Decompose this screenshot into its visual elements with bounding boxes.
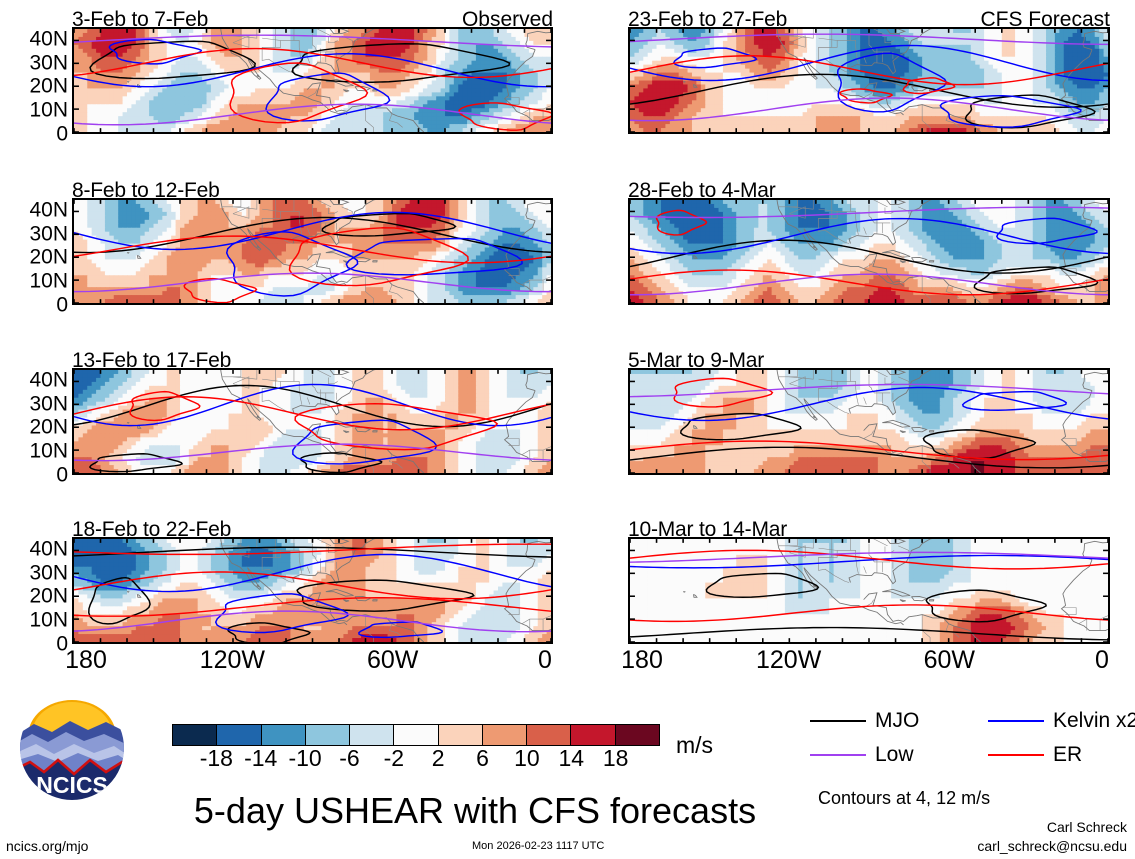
colorbar-ticks: -18-14-10-6-226101418 [172, 746, 660, 776]
y-tick-label: 40N [29, 369, 68, 390]
y-tick-label: 20N [29, 247, 68, 268]
y-axis-labels-1: 40N30N20N10N0 [0, 198, 68, 305]
colorbar-tick-label: 2 [432, 747, 445, 770]
y-tick-label: 20N [29, 76, 68, 97]
axis-ticks-5 [630, 200, 1108, 303]
x-tick-label: 180 [621, 648, 663, 673]
y-tick-label: 10N [29, 610, 68, 631]
map-panel-7: 10-Mar to 14-Mar180120W60W0 [628, 537, 1110, 644]
wave-legend-item-er: ER [988, 744, 1082, 765]
map-panel-0: 3-Feb to 7-FebObserved40N30N20N10N0 [72, 27, 553, 134]
author-block: Carl Schreck carl_schreck@ncsu.edu [977, 818, 1127, 856]
map-panel-3: 18-Feb to 22-Feb40N30N20N10N0180120W60W0 [72, 537, 553, 644]
colorbar-swatch [483, 725, 527, 745]
colorbar-swatch [262, 725, 306, 745]
contour-note: Contours at 4, 12 m/s [818, 788, 990, 809]
colorbar-swatch [527, 725, 571, 745]
y-tick-label: 10N [29, 100, 68, 121]
map-plot-area-7 [628, 537, 1110, 644]
map-panel-2: 13-Feb to 17-Feb40N30N20N10N0 [72, 368, 553, 475]
legend-label: ER [1053, 744, 1082, 765]
colorbar-swatch [217, 725, 261, 745]
colorbar-swatch [306, 725, 350, 745]
site-url: ncics.org/mjo [6, 838, 88, 854]
colorbar-swatch [616, 725, 659, 745]
x-tick-label: 0 [1095, 648, 1109, 673]
axis-ticks-0 [74, 29, 551, 132]
author-email: carl_schreck@ncsu.edu [977, 837, 1127, 856]
x-tick-label: 0 [538, 648, 552, 673]
wave-legend: MJOKelvin x2LowER [810, 710, 1130, 776]
y-tick-label: 20N [29, 417, 68, 438]
y-tick-label: 10N [29, 441, 68, 462]
y-tick-label: 10N [29, 271, 68, 292]
axis-ticks-7 [630, 539, 1108, 642]
colorbar: -18-14-10-6-226101418 [172, 724, 660, 746]
colorbar-tick-label: 6 [476, 747, 489, 770]
colorbar-swatch [173, 725, 217, 745]
colorbar-tick-label: -18 [200, 747, 233, 770]
timestamp: Mon 2026-02-23 1117 UTC [472, 840, 604, 852]
map-panel-4: 23-Feb to 27-FebCFS Forecast [628, 27, 1110, 134]
y-tick-label: 30N [29, 52, 68, 73]
page-title: 5-day USHEAR with CFS forecasts [150, 790, 800, 832]
y-axis-labels-3: 40N30N20N10N0 [0, 537, 68, 644]
colorbar-swatch [571, 725, 615, 745]
colorbar-swatch [350, 725, 394, 745]
wave-legend-item-mjo: MJO [810, 710, 919, 731]
wave-legend-item-low: Low [810, 744, 914, 765]
map-plot-area-6 [628, 368, 1110, 475]
legend-line-swatch [810, 720, 866, 722]
x-axis-labels-3: 180120W60W0 [72, 648, 553, 682]
map-plot-area-2 [72, 368, 553, 475]
x-tick-label: 120W [756, 648, 821, 673]
y-tick-label: 40N [29, 199, 68, 220]
map-plot-area-1 [72, 198, 553, 305]
y-tick-label: 30N [29, 223, 68, 244]
map-panel-5: 28-Feb to 4-Mar [628, 198, 1110, 305]
axis-ticks-2 [74, 370, 551, 473]
y-tick-label: 40N [29, 28, 68, 49]
legend-line-swatch [810, 754, 866, 756]
x-tick-label: 60W [367, 648, 418, 673]
y-tick-label: 30N [29, 562, 68, 583]
legend-label: Low [875, 744, 914, 765]
colorbar-swatch [439, 725, 483, 745]
map-plot-area-4 [628, 27, 1110, 134]
colorbar-tick-label: -10 [288, 747, 321, 770]
legend-label: Kelvin x2 [1053, 710, 1135, 731]
legend-label: MJO [875, 710, 919, 731]
y-tick-label: 0 [56, 465, 68, 486]
x-tick-label: 60W [924, 648, 975, 673]
panel-grid: 3-Feb to 7-FebObserved40N30N20N10N08-Feb… [0, 0, 1135, 700]
ncics-logo-svg: NCICS [18, 694, 126, 802]
y-tick-label: 0 [56, 295, 68, 316]
axis-ticks-1 [74, 200, 551, 303]
x-tick-label: 120W [200, 648, 265, 673]
colorbar-tick-label: -14 [244, 747, 277, 770]
y-axis-labels-0: 40N30N20N10N0 [0, 27, 68, 134]
y-axis-labels-2: 40N30N20N10N0 [0, 368, 68, 475]
map-panel-1: 8-Feb to 12-Feb40N30N20N10N0 [72, 198, 553, 305]
colorbar-tick-label: 10 [514, 747, 540, 770]
ncics-logo: NCICS [18, 694, 126, 802]
map-plot-area-5 [628, 198, 1110, 305]
colorbar-swatches [172, 724, 660, 746]
y-tick-label: 20N [29, 586, 68, 607]
y-tick-label: 40N [29, 538, 68, 559]
colorbar-swatch [394, 725, 438, 745]
colorbar-tick-label: -2 [384, 747, 404, 770]
colorbar-tick-label: -6 [339, 747, 359, 770]
axis-ticks-3 [74, 539, 551, 642]
y-tick-label: 0 [56, 124, 68, 145]
map-plot-area-3 [72, 537, 553, 644]
author-name: Carl Schreck [977, 818, 1127, 837]
colorbar-units-label: m/s [676, 732, 713, 759]
axis-ticks-4 [630, 29, 1108, 132]
map-plot-area-0 [72, 27, 553, 134]
legend-line-swatch [988, 720, 1044, 722]
colorbar-tick-label: 14 [558, 747, 584, 770]
map-panel-6: 5-Mar to 9-Mar [628, 368, 1110, 475]
x-tick-label: 180 [65, 648, 107, 673]
x-axis-labels-7: 180120W60W0 [628, 648, 1110, 682]
wave-legend-item-kelvin-x2: Kelvin x2 [988, 710, 1135, 731]
colorbar-tick-label: 18 [603, 747, 629, 770]
y-tick-label: 30N [29, 393, 68, 414]
axis-ticks-6 [630, 370, 1108, 473]
legend-line-swatch [988, 754, 1044, 756]
